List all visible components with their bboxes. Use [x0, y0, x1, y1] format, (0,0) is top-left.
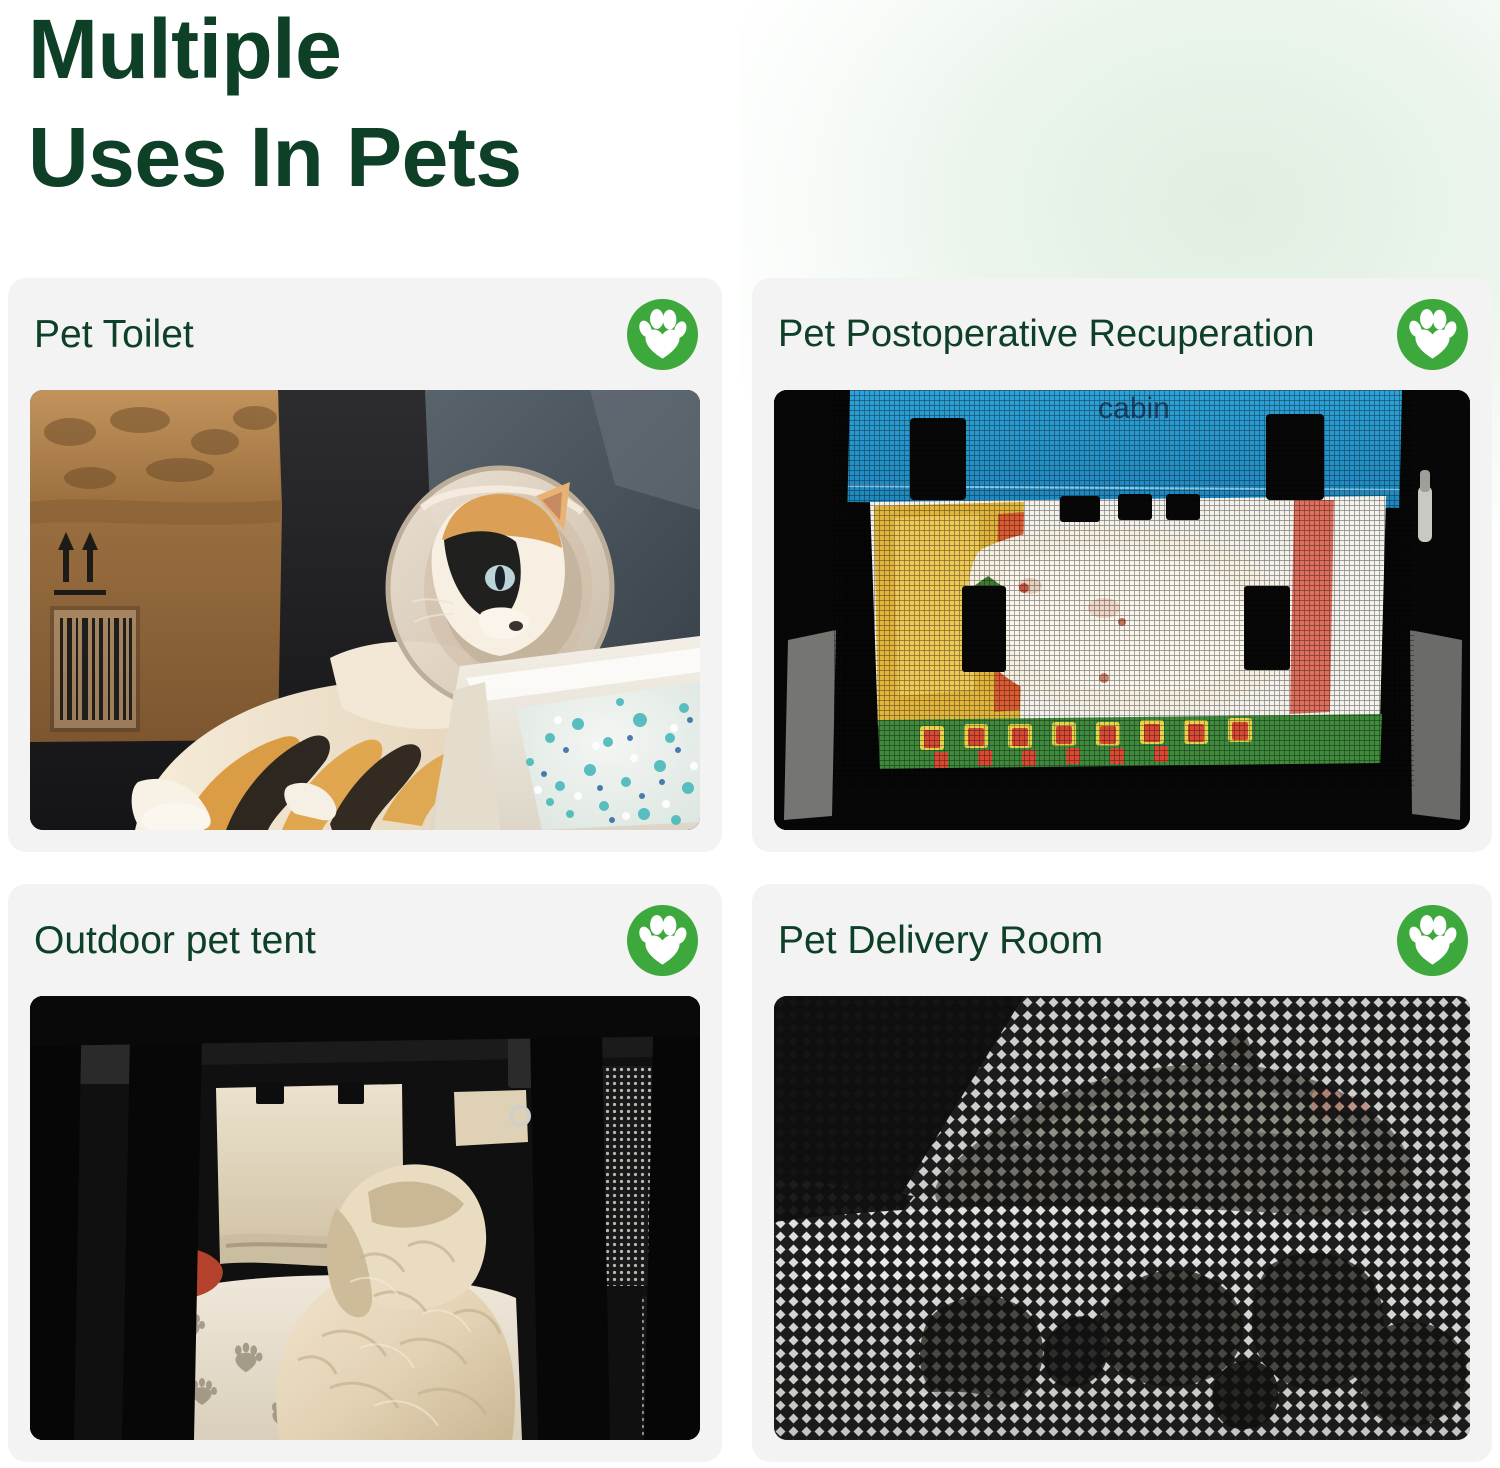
paw-icon [1397, 299, 1468, 370]
paw-icon [627, 905, 698, 976]
card-title: Pet Toilet [34, 315, 194, 354]
card-header: Pet Postoperative Recuperation [752, 278, 1492, 390]
page-title: Multiple Uses In Pets [28, 0, 928, 211]
card-photo-pet-delivery-room [774, 996, 1470, 1440]
use-case-card-pet-postoperative-recuperation: Pet Postoperative Recuperation [752, 278, 1492, 852]
card-header: Outdoor pet tent [8, 884, 722, 996]
card-title: Pet Delivery Room [778, 921, 1103, 960]
card-title: Outdoor pet tent [34, 921, 316, 960]
paw-icon [627, 299, 698, 370]
card-photo-outdoor-pet-tent [30, 996, 700, 1440]
infographic-page: Multiple Uses In Pets Pet Toilet [0, 0, 1500, 1468]
card-photo-pet-postoperative-recuperation: cabin [774, 390, 1470, 830]
paw-icon [1397, 905, 1468, 976]
card-photo-pet-toilet [30, 390, 700, 830]
card-title: Pet Postoperative Recuperation [778, 315, 1315, 353]
card-header: Pet Toilet [8, 278, 722, 390]
use-case-card-outdoor-pet-tent: Outdoor pet tent [8, 884, 722, 1462]
card-header: Pet Delivery Room [752, 884, 1492, 996]
use-case-card-pet-toilet: Pet Toilet [8, 278, 722, 852]
use-case-card-pet-delivery-room: Pet Delivery Room [752, 884, 1492, 1462]
